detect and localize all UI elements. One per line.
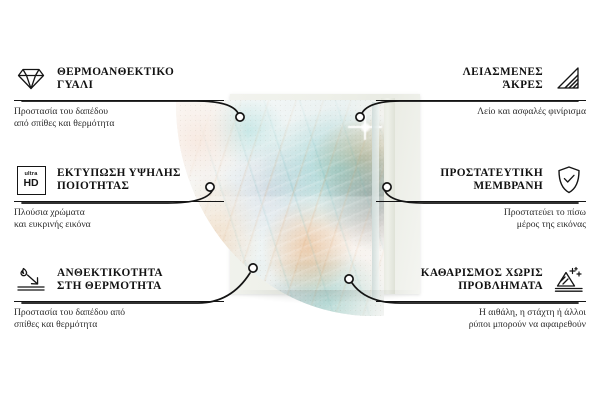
feature-description: Προστατεύει το πίσω μέρος της εικόνας	[376, 207, 586, 230]
feature-divider	[376, 301, 586, 302]
wipe-sparkle-icon	[552, 264, 586, 296]
infographic-canvas: ΘΕΡΜΟΑΝΘΕΚΤΙΚΟ ΓΥΑΛΙ Προστασία του δαπέδ…	[0, 0, 600, 400]
feature-title: ΘΕΡΜΟΑΝΘΕΚΤΙΚΟ ΓΥΑΛΙ	[57, 66, 174, 93]
feature-divider	[376, 100, 586, 101]
hatched-triangle-icon	[552, 63, 586, 95]
feature-header: ΛΕΙΑΣΜΕΝΕΣ ΆΚΡΕΣ	[376, 62, 586, 96]
feature-divider	[14, 100, 224, 101]
feature-header: ΘΕΡΜΟΑΝΘΕΚΤΙΚΟ ΓΥΑΛΙ	[14, 62, 224, 96]
feature-polished-edges: ΛΕΙΑΣΜΕΝΕΣ ΆΚΡΕΣ Λείο και ασφαλές φινίρι…	[376, 62, 586, 118]
ultra-hd-icon: ultra HD	[14, 164, 48, 196]
feature-description: Λείο και ασφαλές φινίρισμα	[376, 106, 586, 118]
flame-deflect-icon	[14, 264, 48, 296]
feature-description: Προστασία του δαπέδου από σπίθες και θερ…	[14, 307, 224, 330]
feature-protective-membrane: ΠΡΟΣΤΑΤΕΥΤΙΚΗ ΜΕΜΒΡΑΝΗ Προστατεύει το πί…	[376, 163, 586, 230]
feature-title: ΕΚΤΥΠΩΣΗ ΥΨΗΛΗΣ ΠΟΙΟΤΗΤΑΣ	[57, 167, 181, 194]
feature-description: Προστασία του δαπέδου από σπίθες και θερ…	[14, 106, 224, 129]
feature-trouble-free-cleaning: ΚΑΘΑΡΙΣΜΟΣ ΧΩΡΙΣ ΠΡΟΒΛΗΜΑΤΑ Η αιθάλη, η …	[376, 263, 586, 330]
feature-description: Η αιθάλη, η στάχτη ή άλλοι ρύποι μπορούν…	[376, 307, 586, 330]
feature-title: ΛΕΙΑΣΜΕΝΕΣ ΆΚΡΕΣ	[463, 66, 543, 93]
diamond-icon	[14, 63, 48, 95]
feature-header: ΠΡΟΣΤΑΤΕΥΤΙΚΗ ΜΕΜΒΡΑΝΗ	[376, 163, 586, 197]
feature-divider	[14, 301, 224, 302]
feature-header: ΑΝΘΕΚΤΙΚΟΤΗΤΑ ΣΤΗ ΘΕΡΜΟΤΗΤΑ	[14, 263, 224, 297]
feature-header: ΚΑΘΑΡΙΣΜΟΣ ΧΩΡΙΣ ΠΡΟΒΛΗΜΑΤΑ	[376, 263, 586, 297]
feature-heat-resistant-glass: ΘΕΡΜΟΑΝΘΕΚΤΙΚΟ ΓΥΑΛΙ Προστασία του δαπέδ…	[14, 62, 224, 129]
feature-title: ΠΡΟΣΤΑΤΕΥΤΙΚΗ ΜΕΜΒΡΑΝΗ	[440, 167, 543, 194]
feature-high-quality-print: ultra HD ΕΚΤΥΠΩΣΗ ΥΨΗΛΗΣ ΠΟΙΟΤΗΤΑΣ Πλούσ…	[14, 163, 224, 230]
hd-badge-bottom-label: HD	[24, 178, 39, 189]
feature-heat-durability: ΑΝΘΕΚΤΙΚΟΤΗΤΑ ΣΤΗ ΘΕΡΜΟΤΗΤΑ Προστασία το…	[14, 263, 224, 330]
feature-header: ultra HD ΕΚΤΥΠΩΣΗ ΥΨΗΛΗΣ ΠΟΙΟΤΗΤΑΣ	[14, 163, 224, 197]
shield-check-icon	[552, 164, 586, 196]
feature-title: ΑΝΘΕΚΤΙΚΟΤΗΤΑ ΣΤΗ ΘΕΡΜΟΤΗΤΑ	[57, 267, 163, 294]
feature-divider	[14, 201, 224, 202]
feature-title: ΚΑΘΑΡΙΣΜΟΣ ΧΩΡΙΣ ΠΡΟΒΛΗΜΑΤΑ	[421, 267, 543, 294]
feature-description: Πλούσια χρώματα και ευκρινής εικόνα	[14, 207, 224, 230]
feature-divider	[376, 201, 586, 202]
